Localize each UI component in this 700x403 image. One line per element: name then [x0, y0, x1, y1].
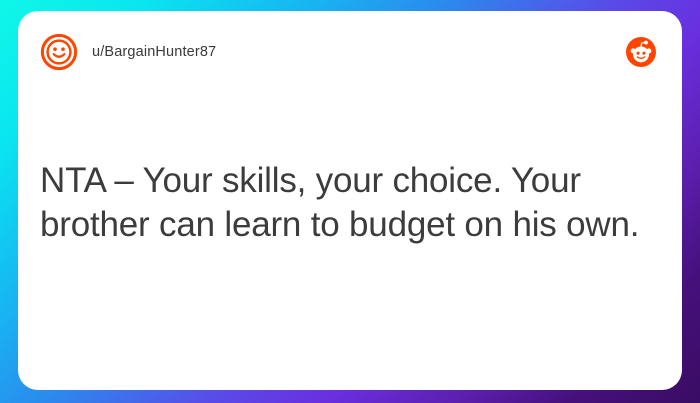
reddit-comment-card: u/BargainHunter87 NTA – Your skills, you…: [18, 11, 682, 390]
screenshot-root: u/BargainHunter87 NTA – Your skills, you…: [0, 0, 700, 403]
post-body-text: NTA – Your skills, your choice. Your bro…: [40, 159, 642, 247]
smiley-face-avatar-icon[interactable]: [40, 33, 78, 71]
reddit-snoo-icon: [626, 37, 656, 67]
card-header: u/BargainHunter87: [18, 11, 682, 93]
username-label[interactable]: u/BargainHunter87: [92, 44, 216, 60]
